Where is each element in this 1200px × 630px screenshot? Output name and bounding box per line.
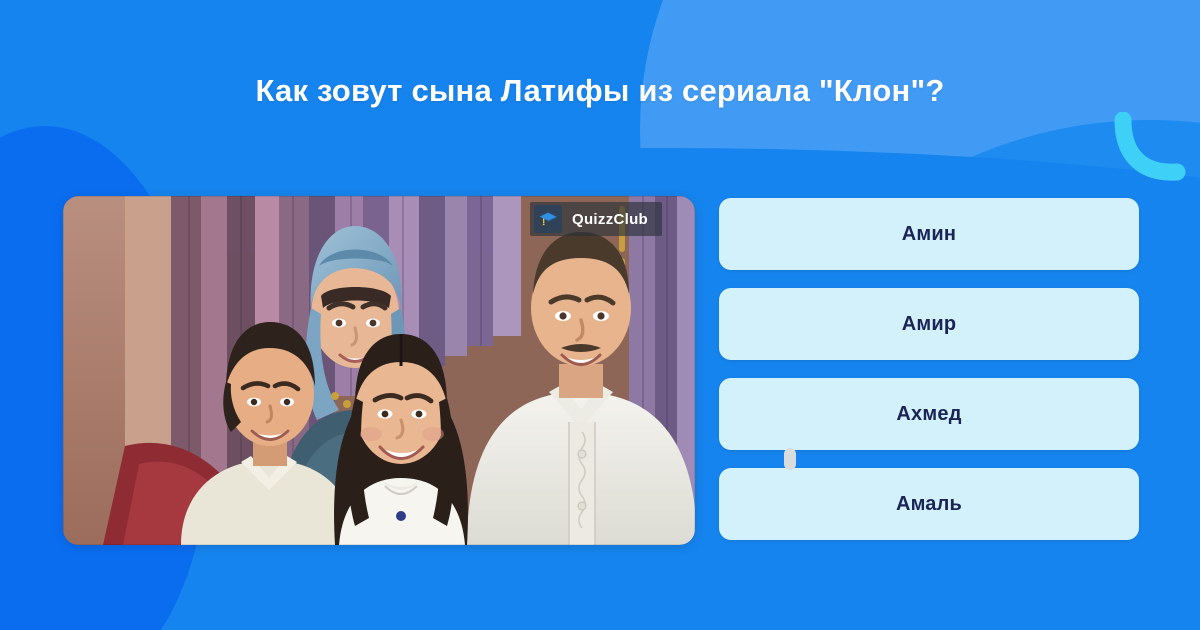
family-photo-illustration — [63, 196, 695, 545]
answer-option-4[interactable]: Амаль — [719, 468, 1139, 540]
watermark-label: QuizzClub — [572, 211, 648, 228]
quizzclub-watermark: QuizzClub — [530, 202, 662, 236]
graduation-cap-icon — [534, 205, 562, 233]
quiz-question-card: Как зовут сына Латифы из сериала "Клон"? — [0, 0, 1200, 630]
answer-option-2[interactable]: Амир — [719, 288, 1139, 360]
cyan-arc-icon — [1113, 112, 1189, 188]
answer-option-3[interactable]: Ахмед — [719, 378, 1139, 450]
answer-option-1[interactable]: Амин — [719, 198, 1139, 270]
question-image: QuizzClub — [63, 196, 695, 545]
scroll-thumb[interactable] — [784, 448, 796, 470]
answer-options-list: Амин Амир Ахмед Амаль — [719, 198, 1139, 540]
page-title: Как зовут сына Латифы из сериала "Клон"? — [0, 72, 1200, 109]
